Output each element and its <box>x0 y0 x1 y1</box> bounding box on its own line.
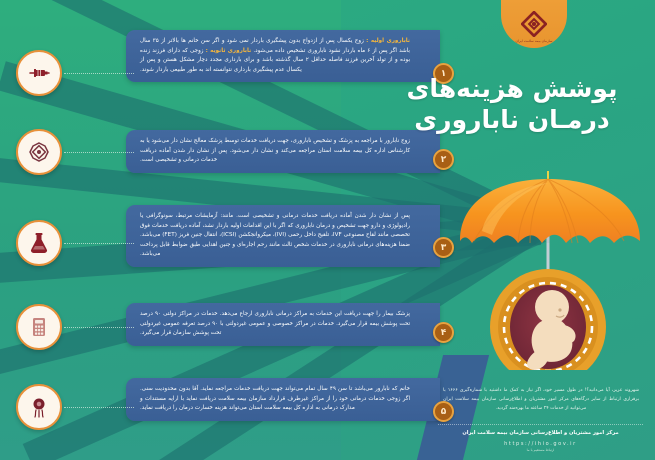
info-panel-4[interactable]: پزشک بیمار را جهت دریافت این خدمات به مر… <box>126 303 440 346</box>
info-text-2: زوج نابارور با مراجعه به پزشک و تشخیص نا… <box>140 137 410 166</box>
calculator-icon <box>16 304 62 350</box>
infographic-canvas: سازمان بیمه سلامت ایران پوشش هزینه‌های د… <box>0 0 655 460</box>
info-text-3: پس از نشان دار شدن آماده دریافت خدمات در… <box>140 212 410 260</box>
info-panel-5[interactable]: خانم که نابارور می‌باشد تا سن ۴۹ سال تما… <box>126 378 440 421</box>
step-number-4: ۴ <box>433 322 454 343</box>
connector-dots-3 <box>64 243 134 244</box>
info-text-4: پزشک بیمار را جهت دریافت این خدمات به مر… <box>140 310 410 339</box>
footer-text: شهروند عزیز، آیا می‌دانید؟! در طول مسیر … <box>443 387 639 414</box>
sperm-ovum-icon <box>16 384 62 430</box>
connector-dots-2 <box>64 152 134 153</box>
connector-dots-4 <box>64 327 134 328</box>
quatrefoil-emblem-icon <box>521 11 547 37</box>
title-line-1: پوشش هزینه‌های <box>387 74 637 105</box>
logo-caption: سازمان بیمه سلامت ایران <box>515 39 552 43</box>
footer-organization: مرکز امور مشتریان و اطلاع‌رسانی سازمان ب… <box>438 430 643 438</box>
info-panel-2[interactable]: زوج نابارور با مراجعه به پزشک و تشخیص نا… <box>126 130 440 173</box>
info-text-1: ناباروری اولیه : زوج یکسال پس از ازدواج … <box>140 37 410 75</box>
info-panel-3[interactable]: پس از نشان دار شدن آماده دریافت خدمات در… <box>126 205 440 267</box>
page-title: پوشش هزینه‌های درمـان ناباروری <box>387 74 637 135</box>
step-number-3: ۳ <box>433 237 454 258</box>
title-line-2: درمـان ناباروری <box>387 105 637 136</box>
step-number-2: ۲ <box>433 149 454 170</box>
syringe-icon <box>16 50 62 96</box>
footer-note: شهروند عزیز، آیا می‌دانید؟! در طول مسیر … <box>443 387 639 414</box>
footer-contact-bar: مرکز امور مشتریان و اطلاع‌رسانی سازمان ب… <box>438 424 643 452</box>
connector-dots-1 <box>64 73 134 74</box>
umbrella-over-fetus-illustration <box>452 165 647 370</box>
official-seal-icon <box>16 129 62 175</box>
footer-subnote: ارتباط مستقیم با ما <box>438 448 643 452</box>
info-text-5: خانم که نابارور می‌باشد تا سن ۴۹ سال تما… <box>140 385 410 414</box>
connector-dots-5 <box>64 407 134 408</box>
footer-url[interactable]: https://ihio.gov.ir <box>438 441 643 447</box>
lab-flask-icon <box>16 220 62 266</box>
